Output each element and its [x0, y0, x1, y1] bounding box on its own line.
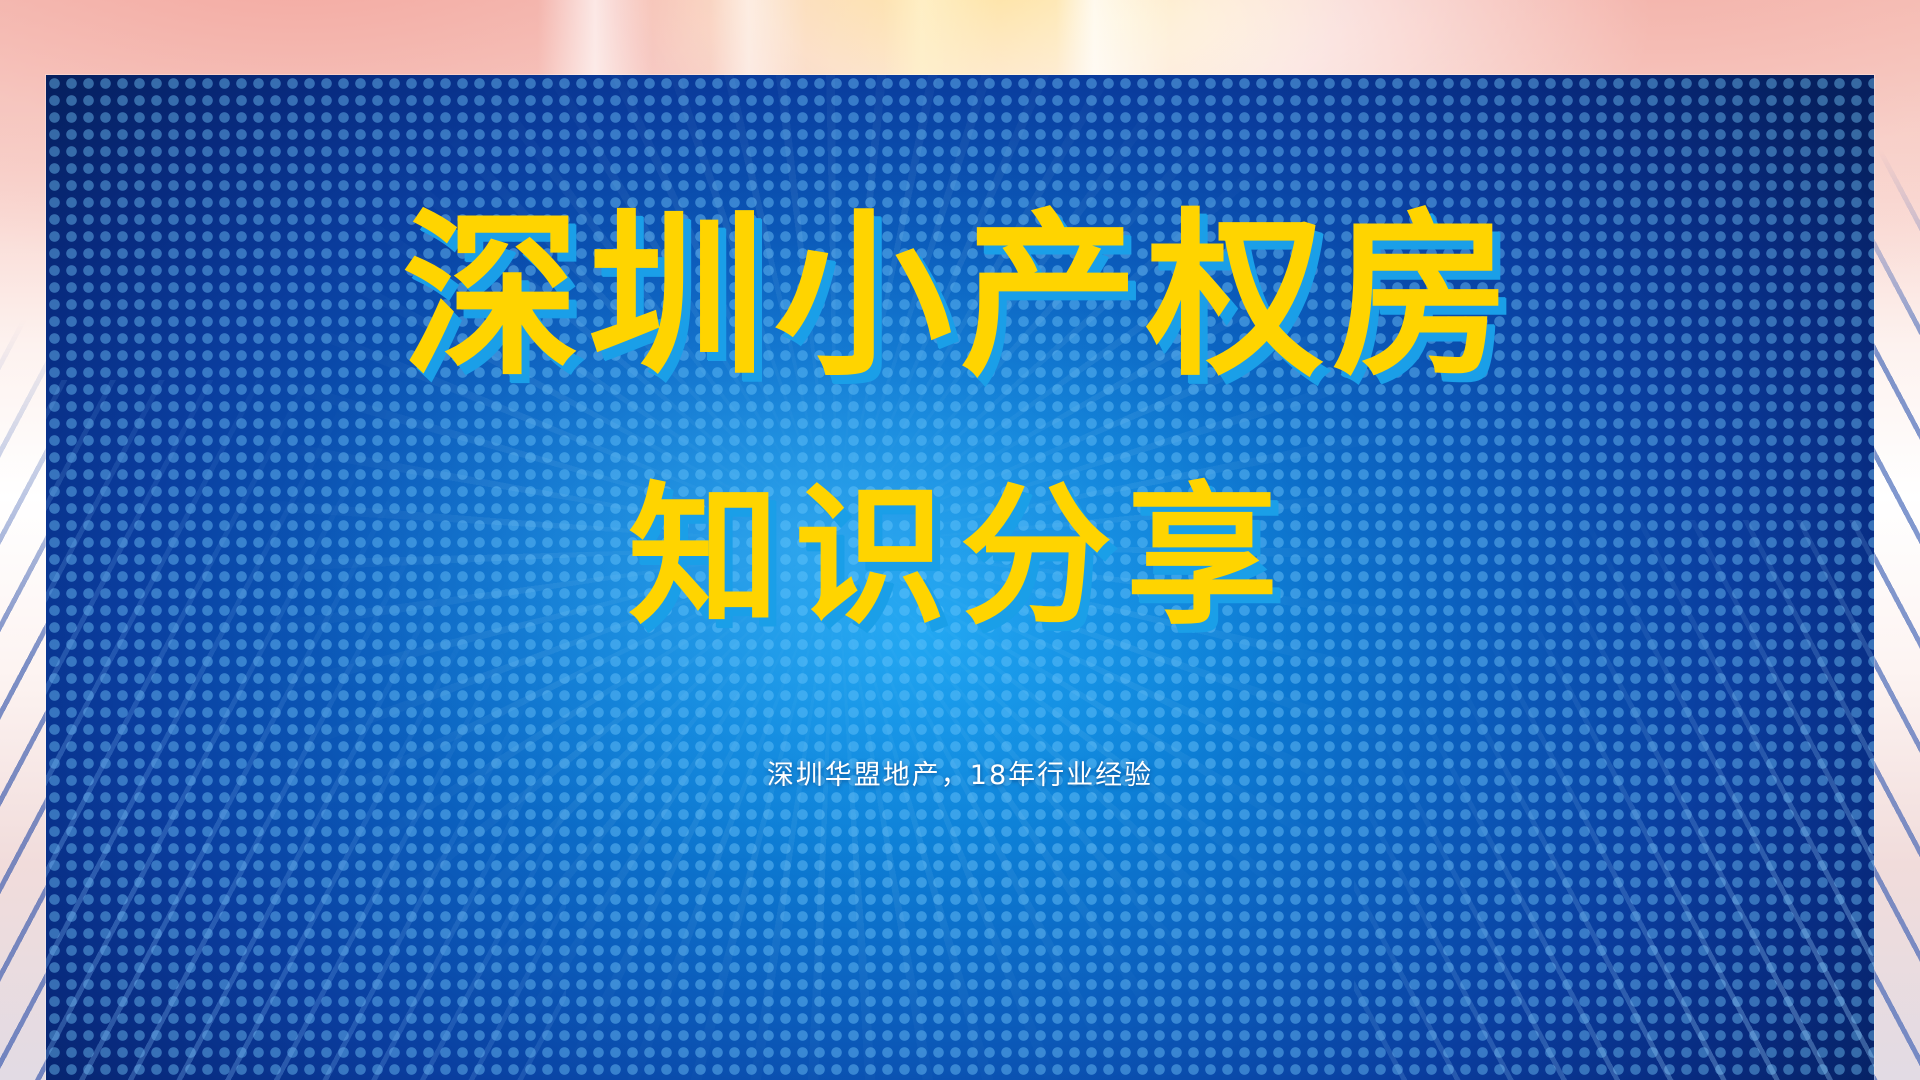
- title-slide: 深圳小产权房 知识分享 深圳华盟地产，18年行业经验: [0, 0, 1920, 1080]
- headline-line-2: 知识分享: [628, 476, 1292, 637]
- slide-stage: 深圳小产权房 知识分享 深圳华盟地产，18年行业经验: [46, 75, 1874, 1080]
- headline-line-1: 深圳小产权房: [402, 203, 1518, 392]
- subtitle-tagline: 深圳华盟地产，18年行业经验: [767, 753, 1153, 792]
- title-text-group: 深圳小产权房 知识分享 深圳华盟地产，18年行业经验: [46, 75, 1874, 1080]
